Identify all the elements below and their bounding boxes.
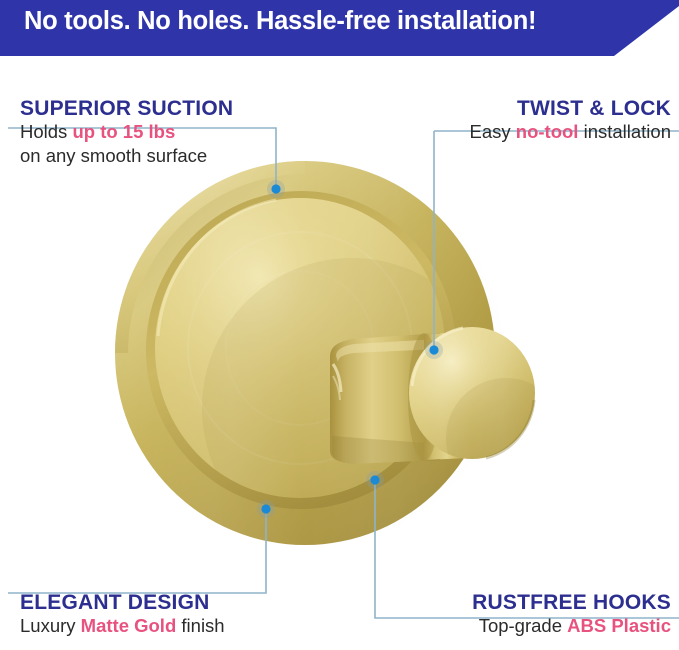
text-post: finish — [176, 615, 224, 636]
callout-title-elegant-design: ELEGANT DESIGN — [20, 592, 225, 614]
callout-superior-suction: SUPERIOR SUCTION Holds up to 15 lbs on a… — [20, 98, 233, 167]
callout-rustfree-hooks: RUSTFREE HOOKS Top-grade ABS Plastic — [472, 592, 671, 638]
callout-title-superior-suction: SUPERIOR SUCTION — [20, 98, 233, 120]
callout-title-twist-and-lock: TWIST & LOCK — [469, 98, 671, 120]
banner-headline: No tools. No holes. Hassle-free installa… — [24, 7, 536, 36]
callout-desc-elegant-design: Luxury Matte Gold finish — [20, 614, 225, 638]
text-highlight: up to 15 lbs — [72, 121, 175, 142]
text-pre: on any smooth surface — [20, 145, 207, 166]
product-infographic: No tools. No holes. Hassle-free installa… — [0, 0, 679, 650]
text-pre: Holds — [20, 121, 72, 142]
text-highlight: Matte Gold — [81, 615, 177, 636]
text-highlight: no-tool — [516, 121, 579, 142]
callout-title-rustfree-hooks: RUSTFREE HOOKS — [472, 592, 671, 614]
callout-twist-and-lock: TWIST & LOCK Easy no-tool installation — [469, 98, 671, 144]
text-post: installation — [578, 121, 671, 142]
callout-desc-rustfree-hooks: Top-grade ABS Plastic — [472, 614, 671, 638]
callout-desc-superior-suction-line-1: Holds up to 15 lbs — [20, 120, 233, 144]
callout-elegant-design: ELEGANT DESIGN Luxury Matte Gold finish — [20, 592, 225, 638]
callout-desc-superior-suction-line-2: on any smooth surface — [20, 144, 233, 168]
callout-desc-twist-and-lock: Easy no-tool installation — [469, 120, 671, 144]
text-pre: Easy — [469, 121, 515, 142]
text-highlight: ABS Plastic — [567, 615, 671, 636]
text-pre: Top-grade — [479, 615, 567, 636]
text-pre: Luxury — [20, 615, 81, 636]
